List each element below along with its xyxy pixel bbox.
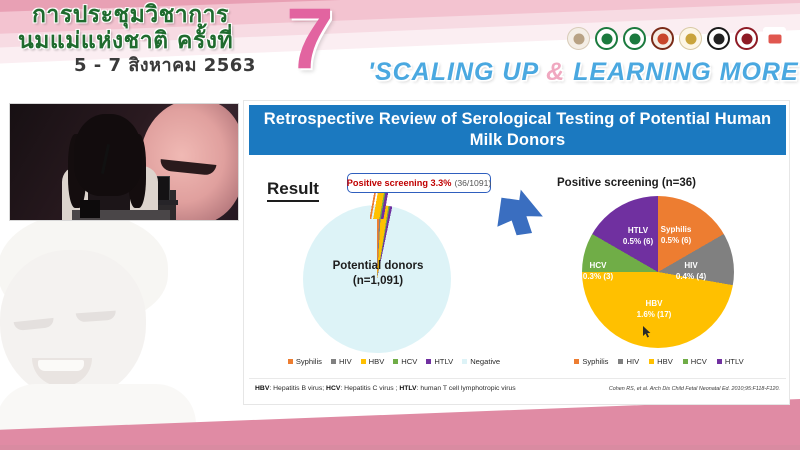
slice-name-hcv: HCV	[576, 261, 620, 272]
legend-swatch-hcv	[393, 359, 398, 364]
presentation-screenshot: การประชุมวิชาการ นมแม่แห่งชาติ ครั้งที่ …	[0, 0, 800, 450]
presenter-video-feed[interactable]	[10, 104, 238, 220]
legend-swatch-htlv	[426, 359, 431, 364]
pie-slice-label-hcv: HCV 0.3% (3)	[576, 261, 620, 282]
legend-right-item-hiv[interactable]: HIV	[618, 357, 639, 366]
pie-left-title: Potential donors	[290, 259, 466, 274]
red-emblem-logo	[735, 27, 758, 50]
result-heading: Result	[267, 179, 319, 202]
pie-slice-label-hbv: HBV 1.6% (17)	[624, 299, 684, 320]
legend-left-label-negative: Negative	[470, 357, 500, 366]
podium-plate	[80, 200, 100, 218]
legend-left-item-syphilis[interactable]: Syphilis	[288, 357, 322, 366]
legend-right-label-hbv: HBV	[657, 357, 673, 366]
thaihealth-sss-logo	[763, 27, 786, 50]
positive-screening-callout: Positive screening 3.3% (36/1091)	[347, 173, 491, 193]
thai-title-line-1: การประชุมวิชาการ	[32, 2, 314, 28]
bottom-edge-strip	[0, 445, 800, 450]
slice-name-hiv: HIV	[668, 261, 714, 272]
footnote-hcv-val: : Hepatitis C virus ;	[340, 385, 399, 392]
legend-swatch-hbv	[361, 359, 366, 364]
legend-swatch-negative	[462, 359, 467, 364]
footnote-hbv-val: : Hepatitis B virus;	[269, 385, 326, 392]
legend-left: Syphilis HIV HBV HCV HTLV Negative	[264, 357, 524, 366]
presentation-slide: Retrospective Review of Serological Test…	[243, 100, 790, 405]
legend-left-item-hiv[interactable]: HIV	[331, 357, 352, 366]
footnote-hcv-key: HCV	[326, 385, 340, 392]
pie-left-center-label: Potential donors (n=1,091)	[290, 259, 466, 289]
slice-value-hiv: 0.4% (4)	[668, 272, 714, 283]
royal-emblem-logo	[567, 27, 590, 50]
legend-right-swatch-hiv	[618, 359, 623, 364]
legend-right-item-htlv[interactable]: HTLV	[717, 357, 744, 366]
footnote-hbv-key: HBV	[255, 385, 269, 392]
conference-header-banner: การประชุมวิชาการ นมแม่แห่งชาติ ครั้งที่ …	[0, 0, 800, 96]
legend-right-label-htlv: HTLV	[725, 357, 744, 366]
tagline-ampersand: &	[546, 58, 565, 86]
legend-left-item-htlv[interactable]: HTLV	[426, 357, 453, 366]
edition-number: 7	[286, 0, 334, 82]
legend-right-item-hcv[interactable]: HCV	[683, 357, 707, 366]
legend-right-label-syphilis: Syphilis	[582, 357, 608, 366]
ministry-health-logo	[595, 27, 618, 50]
legend-left-label-hcv: HCV	[401, 357, 417, 366]
slice-value-hbv: 1.6% (17)	[624, 310, 684, 321]
slide-footnote-bar: HBV: Hepatitis B virus; HCV: Hepatitis C…	[249, 378, 786, 398]
conference-tagline: 'SCALING UP & LEARNING MORE'	[368, 58, 800, 87]
slice-name-htlv: HTLV	[614, 226, 662, 237]
slice-value-hcv: 0.3% (3)	[576, 272, 620, 283]
pie-right-title: Positive screening (n=36)	[557, 177, 787, 189]
legend-right-label-hcv: HCV	[691, 357, 707, 366]
pie-slice-label-hiv: HIV 0.4% (4)	[668, 261, 714, 282]
slide-title: Retrospective Review of Serological Test…	[249, 105, 786, 155]
legend-left-label-hiv: HIV	[339, 357, 352, 366]
legend-right-item-hbv[interactable]: HBV	[649, 357, 673, 366]
legend-right-item-syphilis[interactable]: Syphilis	[574, 357, 608, 366]
sponsor-logo-row	[567, 27, 786, 50]
baby-watermark-image	[0, 212, 222, 422]
slice-name-hbv: HBV	[624, 299, 684, 310]
blue-down-right-arrow	[496, 189, 546, 236]
conference-thai-title: การประชุมวิชาการ นมแม่แห่งชาติ ครั้งที่ …	[14, 2, 314, 78]
legend-right-swatch-hbv	[649, 359, 654, 364]
legend-right-swatch-hcv	[683, 359, 688, 364]
legend-right-swatch-syphilis	[574, 359, 579, 364]
conference-date: 5 - 7 สิงหาคม 2563	[74, 54, 314, 78]
pie-slice-label-htlv: HTLV 0.5% (6)	[614, 226, 662, 247]
royal-crown-logo	[679, 27, 702, 50]
legend-swatch-syphilis	[288, 359, 293, 364]
thai-institute-logo	[651, 27, 674, 50]
thai-title-line-2: นมแม่แห่งชาติ ครั้งที่	[18, 28, 314, 54]
tagline-part-1: 'SCALING UP	[368, 58, 546, 86]
legend-swatch-hiv	[331, 359, 336, 364]
slice-value-htlv: 0.5% (6)	[614, 237, 662, 248]
legend-left-label-hbv: HBV	[369, 357, 385, 366]
legend-right-swatch-htlv	[717, 359, 722, 364]
presenter-hair	[74, 114, 142, 196]
legend-left-label-htlv: HTLV	[434, 357, 453, 366]
footnote-htlv-key: HTLV	[399, 385, 416, 392]
legend-left-item-negative[interactable]: Negative	[462, 357, 500, 366]
pie-left-subtitle: (n=1,091)	[290, 274, 466, 289]
black-emblem-logo	[707, 27, 730, 50]
legend-left-item-hcv[interactable]: HCV	[393, 357, 417, 366]
baby-teeth	[38, 360, 84, 371]
source-citation: Cohen RS, et al. Arch Dis Child Fetal Ne…	[609, 386, 780, 392]
callout-highlight-text: Positive screening 3.3%	[347, 178, 452, 188]
legend-right-label-hiv: HIV	[626, 357, 639, 366]
legend-left-label-syphilis: Syphilis	[296, 357, 322, 366]
footnote-htlv-val: : human T cell lymphotropic virus	[417, 385, 516, 392]
abbreviation-footnote: HBV: Hepatitis B virus; HCV: Hepatitis C…	[255, 385, 516, 392]
callout-fraction-text: (36/1091)	[454, 178, 491, 188]
pie-left-exploded-slivers	[370, 193, 388, 219]
legend-left-item-hbv[interactable]: HBV	[361, 357, 385, 366]
legend-right: Syphilis HIV HBV HCV HTLV	[544, 357, 774, 366]
department-health-logo	[623, 27, 646, 50]
tagline-part-2: LEARNING MORE'	[565, 58, 800, 86]
mouse-cursor	[643, 326, 652, 338]
